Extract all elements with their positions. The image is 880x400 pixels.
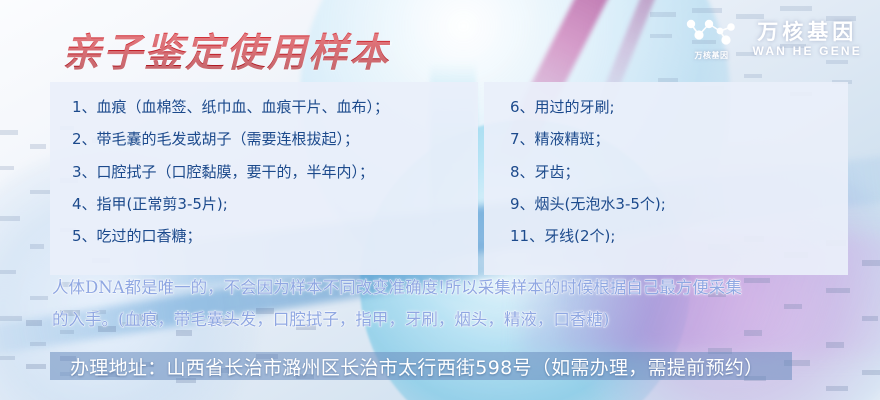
address-text: 办理地址：山西省长治市潞州区长治市太行西街598号（如需办理，需提前预约） (70, 351, 870, 381)
list-item: 9、烟头(无泡水3-5个); (510, 197, 848, 212)
list-item: 7、精液精斑； (510, 132, 848, 147)
brand-mark: 万核基因 (682, 18, 740, 61)
brand-mark-label: 万核基因 (694, 50, 728, 61)
brand-logo: 万核基因 万核基因 WAN HE GENE (682, 18, 862, 61)
sample-list-panel-right: 6、用过的牙刷; 7、精液精斑； 8、牙齿； 9、烟头(无泡水3-5个); 11… (484, 82, 848, 275)
note-line-1: 人体DNA都是唯一的，不会因为样本不同改变准确度!所以采集样本的时候根据自己最方… (52, 272, 852, 304)
sample-list-right: 6、用过的牙刷; 7、精液精斑； 8、牙齿； 9、烟头(无泡水3-5个); 11… (510, 100, 848, 244)
list-item: 6、用过的牙刷; (510, 100, 848, 115)
brand-name-en: WAN HE GENE (752, 45, 862, 58)
poster-canvas: 亲子鉴定使用样本 万核 (0, 0, 880, 400)
molecule-nodes-icon (682, 18, 740, 48)
brand-name-cn: 万核基因 (757, 21, 857, 45)
list-item: 4、指甲(正常剪3-5片); (72, 197, 478, 212)
poster-title: 亲子鉴定使用样本 (62, 22, 390, 78)
note-paragraph: 人体DNA都是唯一的，不会因为样本不同改变准确度!所以采集样本的时候根据自己最方… (52, 272, 852, 336)
list-item: 5、吃过的口香糖； (72, 229, 478, 244)
sample-list-left: 1、血痕（血棉签、纸巾血、血痕干片、血布）； 2、带毛囊的毛发或胡子（需要连根拔… (72, 100, 478, 244)
list-item: 11、牙线(2个); (510, 229, 848, 244)
brand-name-block: 万核基因 WAN HE GENE (752, 21, 862, 58)
list-item: 3、口腔拭子（口腔黏膜，要干的，半年内）； (72, 165, 478, 180)
list-item: 8、牙齿； (510, 165, 848, 180)
list-item: 2、带毛囊的毛发或胡子（需要连根拔起）； (72, 132, 478, 147)
sample-list-panel-left: 1、血痕（血棉签、纸巾血、血痕干片、血布）； 2、带毛囊的毛发或胡子（需要连根拔… (50, 82, 478, 275)
note-line-2: 的入手。(血痕，带毛囊头发，口腔拭子，指甲，牙刷，烟头，精液，口香糖) (52, 304, 852, 336)
list-item: 1、血痕（血棉签、纸巾血、血痕干片、血布）； (72, 100, 478, 115)
